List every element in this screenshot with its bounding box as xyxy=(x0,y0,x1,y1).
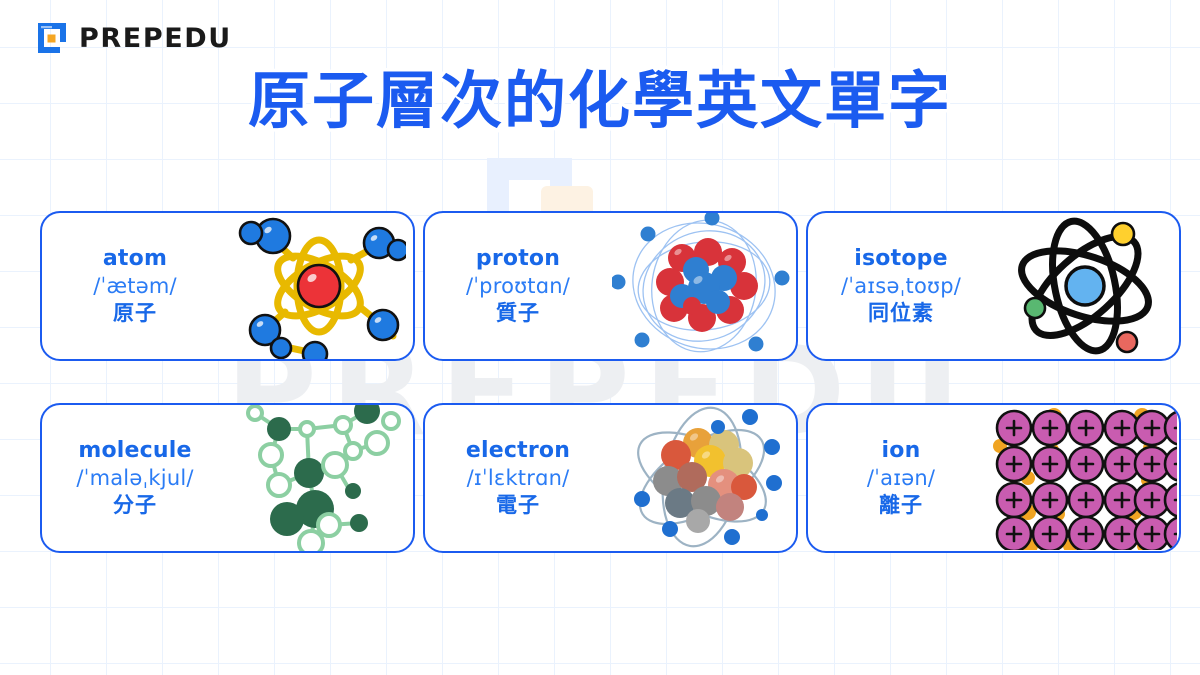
atom-model-icon xyxy=(224,213,413,359)
vocab-card-molecule[interactable]: molecule /ˈmaləˌkjul/ 分子 xyxy=(40,403,415,553)
card-text-block: atom /ˈætəm/ 原子 xyxy=(42,245,224,328)
molecule-network-icon xyxy=(224,405,413,551)
vocab-card-proton[interactable]: proton /ˈproʊtɑn/ 質子 xyxy=(423,211,798,361)
vocab-card-atom[interactable]: atom /ˈætəm/ 原子 xyxy=(40,211,415,361)
electron-cloud-icon xyxy=(607,405,796,551)
card-text-block: electron /ɪˈlɛktrɑn/ 電子 xyxy=(425,437,607,520)
card-text-block: ion /ˈaɪən/ 離子 xyxy=(808,437,990,520)
word-label: proton xyxy=(429,245,607,273)
chinese-label: 原子 xyxy=(46,300,224,327)
vocabulary-card-grid: atom /ˈætəm/ 原子 xyxy=(40,211,1165,553)
vocab-card-electron[interactable]: electron /ɪˈlɛktrɑn/ 電子 xyxy=(423,403,798,553)
ipa-label: /ˈaɪən/ xyxy=(812,465,990,492)
brand-logo: PREPEDU xyxy=(34,20,232,56)
isotope-orbit-icon xyxy=(990,213,1179,359)
page-title: 原子層次的化學英文單字 xyxy=(0,68,1200,133)
word-label: molecule xyxy=(46,437,224,465)
chinese-label: 離子 xyxy=(812,492,990,519)
brand-wordmark: PREPEDU xyxy=(79,25,232,52)
proton-nucleus-icon xyxy=(607,213,796,359)
card-text-block: proton /ˈproʊtɑn/ 質子 xyxy=(425,245,607,328)
ipa-label: /ˈaɪsəˌtoʊp/ xyxy=(812,273,990,300)
card-text-block: molecule /ˈmaləˌkjul/ 分子 xyxy=(42,437,224,520)
prepedu-bracket-logo-icon xyxy=(34,20,70,56)
word-label: ion xyxy=(812,437,990,465)
card-text-block: isotope /ˈaɪsəˌtoʊp/ 同位素 xyxy=(808,245,990,328)
ipa-label: /ˈætəm/ xyxy=(46,273,224,300)
vocab-card-ion[interactable]: ion /ˈaɪən/ 離子 xyxy=(806,403,1181,553)
chinese-label: 電子 xyxy=(429,492,607,519)
word-label: electron xyxy=(429,437,607,465)
ipa-label: /ˈmaləˌkjul/ xyxy=(46,465,224,492)
vocab-card-isotope[interactable]: isotope /ˈaɪsəˌtoʊp/ 同位素 xyxy=(806,211,1181,361)
word-label: atom xyxy=(46,245,224,273)
chinese-label: 同位素 xyxy=(812,300,990,327)
ipa-label: /ˈproʊtɑn/ xyxy=(429,273,607,300)
chinese-label: 質子 xyxy=(429,300,607,327)
ipa-label: /ɪˈlɛktrɑn/ xyxy=(429,465,607,492)
word-label: isotope xyxy=(812,245,990,273)
chinese-label: 分子 xyxy=(46,492,224,519)
ion-lattice-icon xyxy=(990,405,1179,551)
